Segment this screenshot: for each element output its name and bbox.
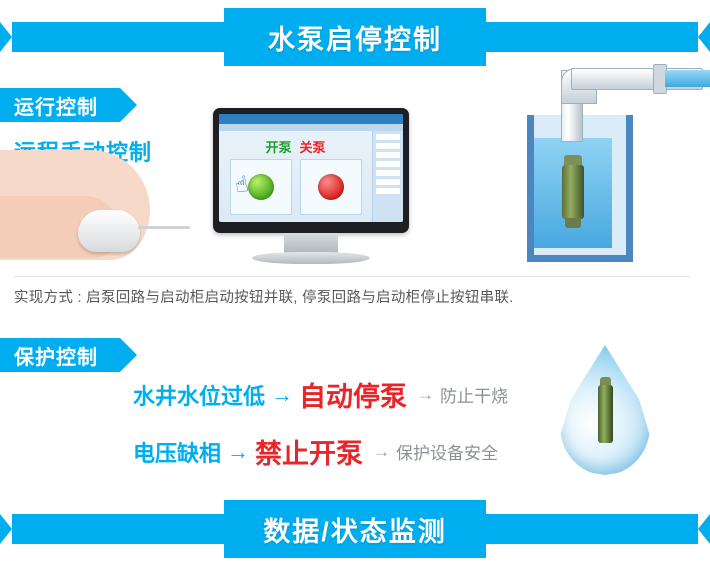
monitor-illustration: 开泵 关泵 xyxy=(213,108,409,233)
tag-protection-control: 保护控制 xyxy=(0,338,120,372)
mouse-cord-icon xyxy=(138,226,190,229)
rule-result: 保护设备安全 xyxy=(396,439,498,464)
screen-side-item xyxy=(376,143,400,149)
rule-result: 防止干烧 xyxy=(440,382,508,407)
rule-condition: 水井水位过低 xyxy=(133,379,265,411)
pump-on-knob-icon[interactable] xyxy=(248,174,274,200)
arrow-right-result-icon: → xyxy=(417,385,434,405)
tag-run-control-label: 运行控制 xyxy=(14,91,98,120)
screen-side-item xyxy=(376,161,400,167)
rule-action: 禁止开泵 xyxy=(255,432,363,471)
screen-tabbar xyxy=(219,124,403,131)
bottom-banner: 数据/状态监测 xyxy=(0,500,710,558)
pump-button-labels: 开泵 关泵 xyxy=(223,137,368,156)
pump-off-knob-icon[interactable] xyxy=(318,174,344,200)
screen-side-item xyxy=(376,188,400,194)
screen-side-item xyxy=(376,179,400,185)
pump-on-label: 开泵 xyxy=(265,137,291,156)
water-droplet-illustration xyxy=(560,345,650,475)
submersible-pump-icon xyxy=(562,165,584,219)
arrow-right-icon: → xyxy=(271,382,293,408)
monitor-screen: 开泵 关泵 xyxy=(219,114,403,222)
screen-side-item xyxy=(376,134,400,140)
top-banner: 水泵启停控制 xyxy=(0,8,710,66)
pipe-water-out-icon xyxy=(665,70,710,87)
implementation-note: 实现方式 : 启泵回路与启动柜启动按钮并联, 停泵回路与启动柜停止按钮串联. xyxy=(14,286,514,307)
bottom-banner-title: 数据/状态监测 xyxy=(0,500,710,558)
pump-off-label: 关泵 xyxy=(300,137,326,156)
pump-off-panel[interactable] xyxy=(300,159,362,215)
tag-run-control: 运行控制 xyxy=(0,88,120,122)
protection-rule-row: 电压缺相 → 禁止开泵 → 保护设备安全 xyxy=(133,432,498,471)
well-pump-illustration xyxy=(505,60,710,265)
rule-action: 自动停泵 xyxy=(299,375,407,414)
pump-foot-icon xyxy=(565,218,581,228)
arrow-right-icon: → xyxy=(227,439,249,465)
screen-side-item xyxy=(376,152,400,158)
screen-titlebar xyxy=(219,114,403,124)
screen-side-item xyxy=(376,170,400,176)
top-banner-title: 水泵启停控制 xyxy=(0,8,710,66)
note-divider xyxy=(14,276,690,277)
droplet-pump-icon xyxy=(598,385,613,443)
rule-condition: 电压缺相 xyxy=(133,436,221,468)
monitor-stand-base xyxy=(252,252,370,264)
mouse-icon xyxy=(78,210,140,252)
arrow-right-result-icon: → xyxy=(373,442,390,462)
tag-protection-control-label: 保护控制 xyxy=(14,341,98,370)
infographic-canvas: 水泵启停控制 运行控制 远程手动控制 开泵 关泵 xyxy=(0,0,710,564)
protection-rule-row: 水井水位过低 → 自动停泵 → 防止干烧 xyxy=(133,375,508,414)
screen-side-list xyxy=(372,131,403,222)
